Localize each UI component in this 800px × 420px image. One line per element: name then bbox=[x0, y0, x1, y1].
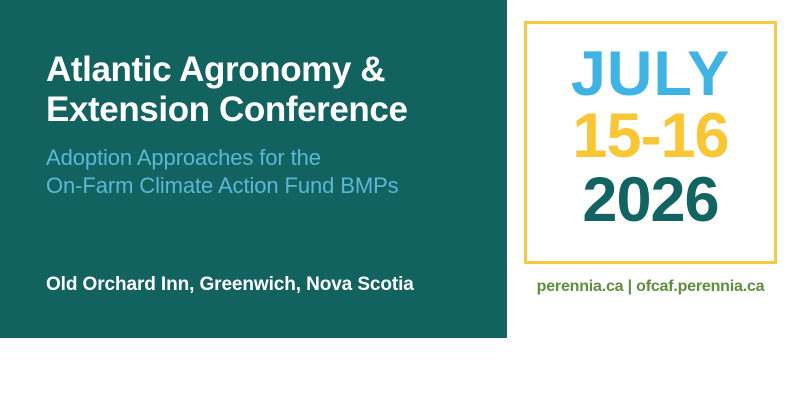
conference-subtitle-line-1: Adoption Approaches for the bbox=[46, 144, 486, 172]
date-year: 2026 bbox=[527, 168, 774, 232]
conference-subtitle-line-2: On-Farm Climate Action Fund BMPs bbox=[46, 172, 486, 200]
conference-title: Atlantic Agronomy & Extension Conference bbox=[46, 50, 486, 130]
conference-title-line-2: Extension Conference bbox=[46, 90, 486, 130]
date-stack: JULY 15-16 2026 bbox=[527, 44, 774, 232]
conference-poster: Atlantic Agronomy & Extension Conference… bbox=[0, 0, 800, 420]
venue-text: Old Orchard Inn, Greenwich, Nova Scotia bbox=[46, 274, 414, 296]
date-days: 15-16 bbox=[527, 104, 774, 168]
website-urls[interactable]: perennia.ca | ofcaf.perennia.ca bbox=[524, 278, 777, 296]
date-box: JULY 15-16 2026 bbox=[524, 21, 777, 264]
teal-panel: Atlantic Agronomy & Extension Conference… bbox=[0, 0, 507, 338]
title-block: Atlantic Agronomy & Extension Conference… bbox=[46, 50, 486, 200]
sponsor-logo-bar: Perennia PRINCE EDWARD ISLAND FEDERATION… bbox=[0, 338, 800, 420]
conference-subtitle: Adoption Approaches for the On-Farm Clim… bbox=[46, 130, 486, 200]
date-month: JULY bbox=[527, 44, 774, 104]
conference-title-line-1: Atlantic Agronomy & bbox=[46, 50, 486, 90]
